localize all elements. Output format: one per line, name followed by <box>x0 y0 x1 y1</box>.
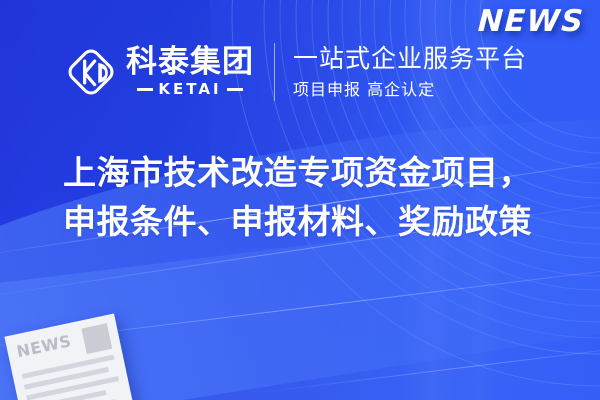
logo-dash-left <box>137 88 153 91</box>
logo-company-en: KETAI <box>158 80 221 98</box>
logo-lockup[interactable]: 科泰集团 KETAI <box>62 36 254 108</box>
header-divider <box>274 43 275 101</box>
news-banner: NEWS 科泰集团 KETAI <box>0 0 600 400</box>
banner-title: 上海市技术改造专项资金项目， 申报条件、申报材料、奖励政策 <box>63 148 563 246</box>
newspaper-masthead: NEWS <box>15 333 73 360</box>
banner-title-line-1: 上海市技术改造专项资金项目， <box>63 148 563 197</box>
ketai-diamond-kd-mark-icon <box>62 43 120 101</box>
tagline-primary: 一站式企业服务平台 <box>293 45 527 73</box>
brand-header: 科泰集团 KETAI 一站式企业服务平台 项目申报 高企认定 <box>62 36 527 108</box>
newspaper-thumbnail <box>81 323 112 354</box>
logo-text-block: 科泰集团 KETAI <box>126 46 254 99</box>
logo-dash-right <box>227 88 243 91</box>
tagline-secondary: 项目申报 高企认定 <box>293 76 527 100</box>
banner-title-line-2: 申报条件、申报材料、奖励政策 <box>63 197 563 246</box>
news-wordmark: NEWS <box>477 4 585 39</box>
tagline-block: 一站式企业服务平台 项目申报 高企认定 <box>293 45 527 100</box>
logo-company-cn: 科泰集团 <box>126 46 254 79</box>
logo-en-row: KETAI <box>126 80 254 98</box>
